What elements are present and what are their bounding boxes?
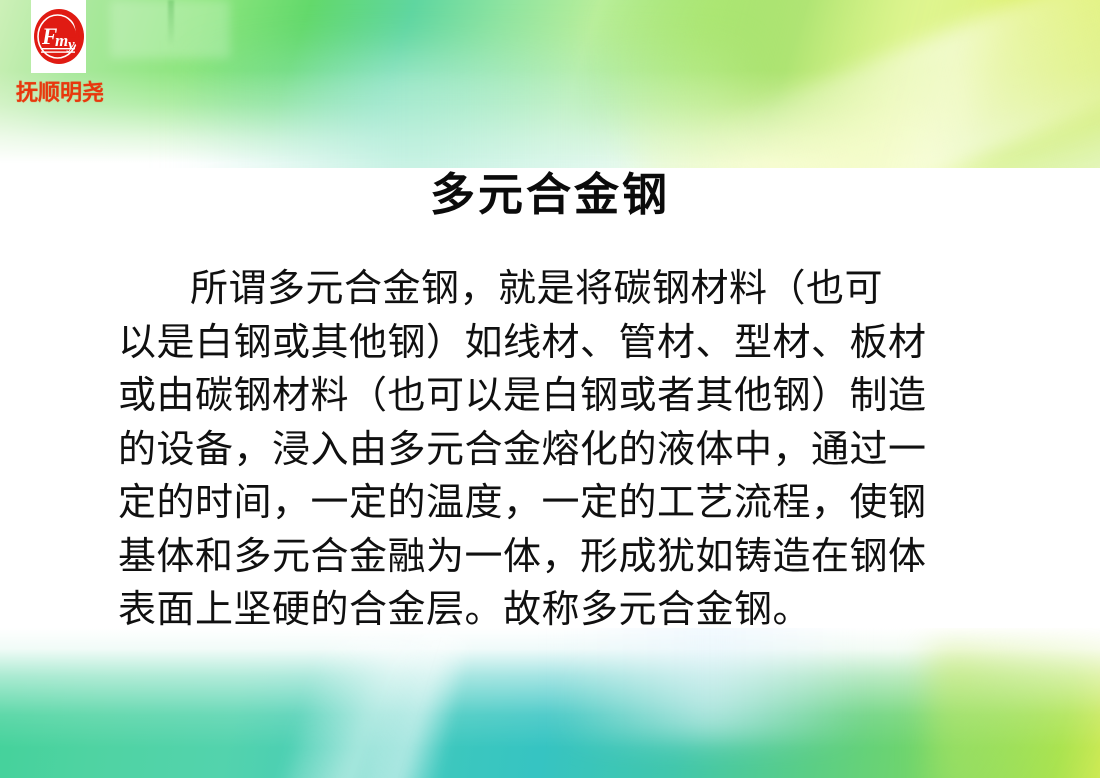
body-line: 所谓多元合金钢，就是将碳钢材料（也可 [118,263,1033,317]
body-line: 表面上坚硬的合金层。故称多元合金钢。 [118,584,1033,638]
slide-body-text: 所谓多元合金钢，就是将碳钢材料（也可 以是白钢或其他钢）如线材、管材、型材、板材… [118,263,1033,638]
body-line: 或由碳钢材料（也可以是白钢或者其他钢）制造 [118,370,1033,424]
body-line: 基体和多元合金融为一体，形成犹如铸造在钢体 [118,531,1033,585]
body-line: 以是白钢或其他钢）如线材、管材、型材、板材 [118,317,1033,371]
presentation-slide: F m y 抚顺明尧 多元合金钢 所谓多元合金钢，就是将碳钢材料（也可 以是白钢… [0,0,1100,778]
body-line: 的设备，浸入由多元合金熔化的液体中，通过一 [118,424,1033,478]
body-line: 定的时间，一定的温度，一定的工艺流程，使钢 [118,477,1033,531]
slide-content: 多元合金钢 所谓多元合金钢，就是将碳钢材料（也可 以是白钢或其他钢）如线材、管材… [0,0,1100,778]
slide-title: 多元合金钢 [0,168,1100,222]
